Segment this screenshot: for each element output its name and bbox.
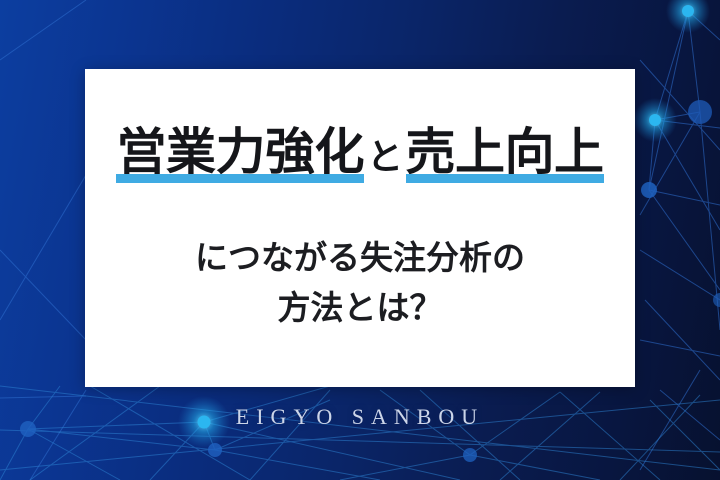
slide-canvas: 営業力強化と売上向上 につながる失注分析の 方法とは？ EIGYO SANBOU (0, 0, 720, 480)
headline: 営業力強化と売上向上 (85, 127, 635, 183)
headline-conjunction: と (364, 140, 406, 182)
subheadline-line-2: 方法とは？ (85, 291, 635, 324)
headline-part-1: 営業力強化 (116, 127, 364, 183)
content-card: 営業力強化と売上向上 につながる失注分析の 方法とは？ (85, 69, 635, 387)
subheadline-line-1: につながる失注分析の (85, 241, 635, 274)
headline-part-2: 売上向上 (406, 127, 604, 183)
brand-footer-text: EIGYO SANBOU (0, 404, 720, 430)
